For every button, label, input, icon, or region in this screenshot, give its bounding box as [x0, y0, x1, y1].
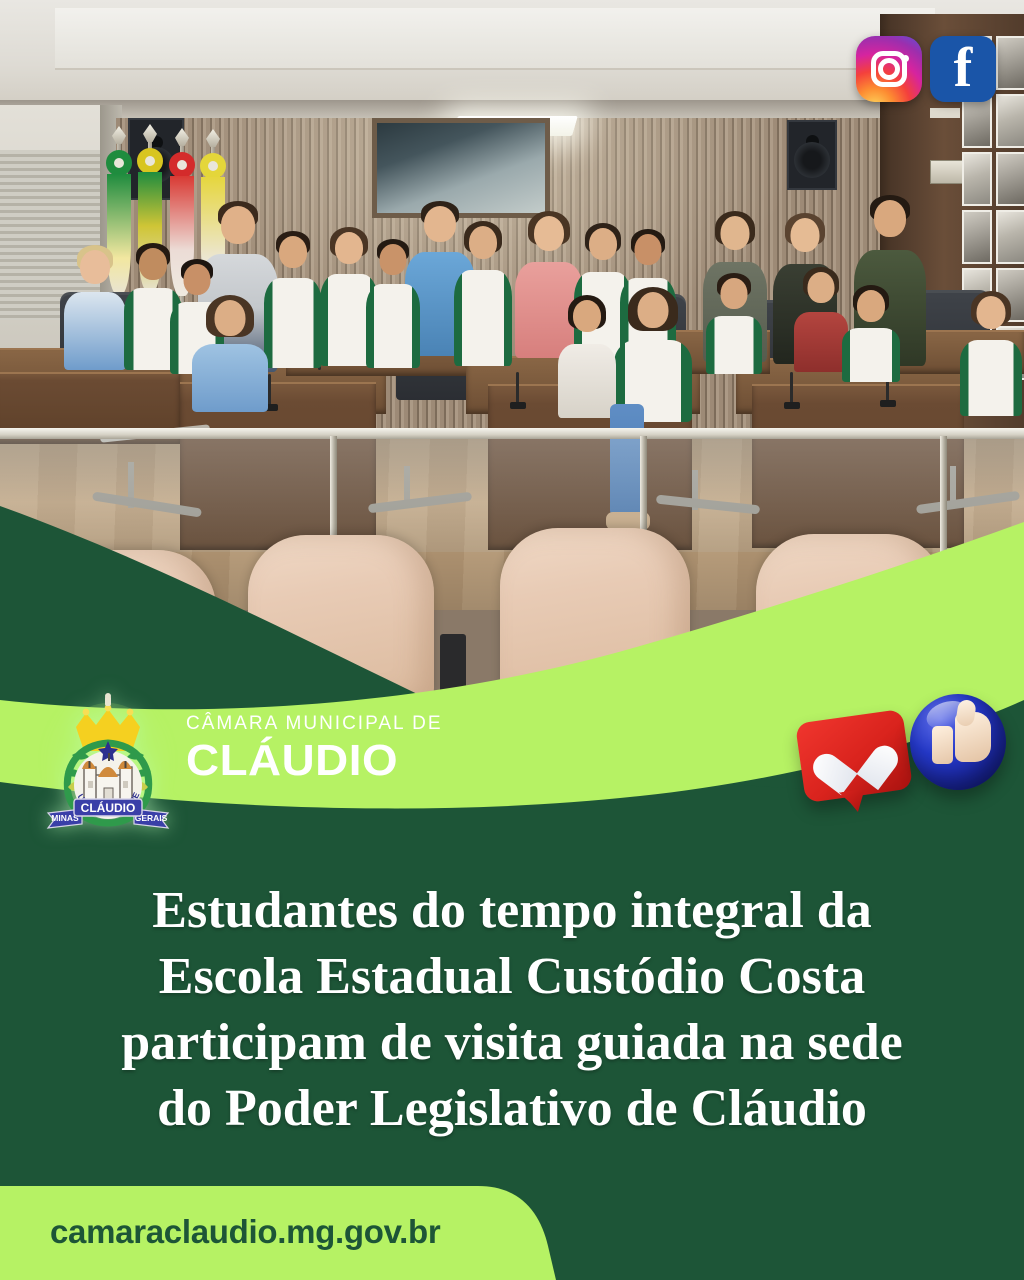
- logo-text: CÂMARA MUNICIPAL DE CLÁUDIO: [186, 713, 443, 784]
- thumb-fist: [932, 726, 953, 764]
- reaction-icons-group: [800, 686, 1020, 816]
- heart-reaction-icon[interactable]: [795, 709, 913, 803]
- website-bar[interactable]: camaraclaudio.mg.gov.br: [0, 1186, 560, 1280]
- heart-glyph: [825, 729, 883, 784]
- brand-logo: UNIÃO E PROSPERIDADE MINAS GERAIS CLÁUDI…: [46, 693, 446, 833]
- headline-line: participam de visita guiada na sede: [52, 1010, 972, 1076]
- facebook-icon[interactable]: f: [930, 36, 996, 102]
- website-url: camaraclaudio.mg.gov.br: [50, 1212, 440, 1252]
- thumbs-up-reaction-icon[interactable]: [910, 694, 1006, 790]
- claudio-coat-of-arms-icon: UNIÃO E PROSPERIDADE MINAS GERAIS CLÁUDI…: [46, 693, 170, 833]
- logo-line-1: CÂMARA MUNICIPAL DE: [186, 713, 443, 735]
- instagram-lens: [878, 58, 900, 80]
- crest-city-banner: CLÁUDIO: [81, 800, 136, 815]
- headline-line: do Poder Legislativo de Cláudio: [52, 1076, 972, 1142]
- logo-line-2: CLÁUDIO: [186, 737, 453, 784]
- facebook-glyph: f: [930, 36, 996, 102]
- headline: Estudantes do tempo integral da Escola E…: [52, 878, 972, 1142]
- headline-line: Escola Estadual Custódio Costa: [52, 944, 972, 1010]
- instagram-dot: [902, 55, 909, 62]
- poster-canvas: f: [0, 0, 1024, 1280]
- instagram-icon[interactable]: [856, 36, 922, 102]
- headline-line: Estudantes do tempo integral da: [52, 878, 972, 944]
